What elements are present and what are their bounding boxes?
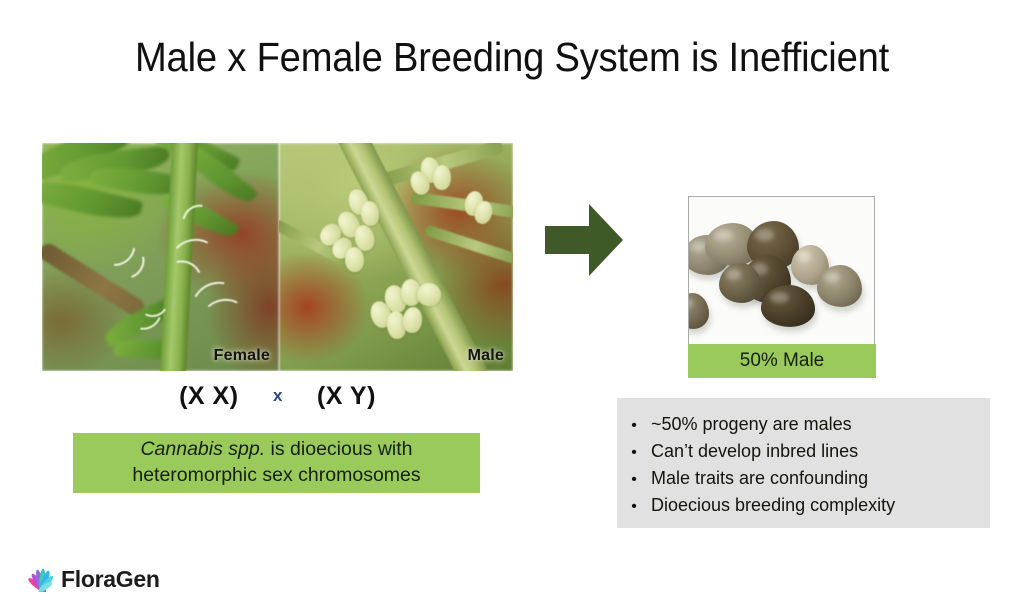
bullet-icon: •: [617, 467, 651, 492]
male-photo-caption: Male: [468, 347, 504, 365]
parent-plants-photo-group: Female Male: [42, 143, 513, 371]
species-note-box: Cannabis spp. is dioecious with heteromo…: [73, 433, 480, 493]
cannabis-seed: [817, 265, 862, 307]
cannabis-seed: [688, 293, 709, 329]
list-item-label: ~50% progeny are males: [651, 412, 852, 437]
consequences-box: • ~50% progeny are males • Can’t develop…: [617, 398, 990, 528]
species-note-rest: is dioecious with: [265, 438, 412, 460]
list-item-label: Male traits are confounding: [651, 466, 868, 491]
list-item: • Male traits are confounding: [617, 466, 990, 493]
list-item-label: Dioecious breeding complexity: [651, 493, 895, 518]
bullet-icon: •: [617, 494, 651, 519]
cannabis-seed: [719, 263, 761, 303]
seed-panel-banner: 50% Male: [688, 344, 876, 378]
species-note-text: Cannabis spp. is dioecious with heteromo…: [132, 437, 420, 488]
list-item: • Can’t develop inbred lines: [617, 439, 990, 466]
brand-name: FloraGen: [61, 566, 160, 593]
page-title: Male x Female Breeding System is Ineffic…: [36, 34, 988, 81]
list-item: • ~50% progeny are males: [617, 412, 990, 439]
bullet-icon: •: [617, 440, 651, 465]
seed-banner-label: 50% Male: [740, 350, 825, 372]
list-item-label: Can’t develop inbred lines: [651, 439, 858, 464]
male-plant-photo: Male: [279, 143, 513, 371]
consequences-list: • ~50% progeny are males • Can’t develop…: [617, 398, 990, 520]
floragen-leaf-logo-icon: [27, 562, 57, 597]
cannabis-seed: [761, 285, 815, 327]
right-arrow-icon: [545, 204, 623, 276]
species-note-line2: heteromorphic sex chromosomes: [132, 464, 420, 486]
bullet-icon: •: [617, 413, 651, 438]
footer-brand: FloraGen: [27, 562, 160, 597]
female-genotype-label: (X X): [179, 382, 238, 410]
list-item: • Dioecious breeding complexity: [617, 493, 990, 520]
seed-photo-panel: [688, 196, 875, 346]
genotype-cross-row: (X X) x (X Y): [42, 382, 513, 411]
species-binomial: Cannabis spp.: [140, 438, 265, 460]
female-photo-caption: Female: [214, 347, 270, 365]
female-plant-photo: Female: [42, 143, 279, 371]
cross-symbol: x: [273, 386, 282, 405]
male-genotype-label: (X Y): [317, 382, 376, 410]
